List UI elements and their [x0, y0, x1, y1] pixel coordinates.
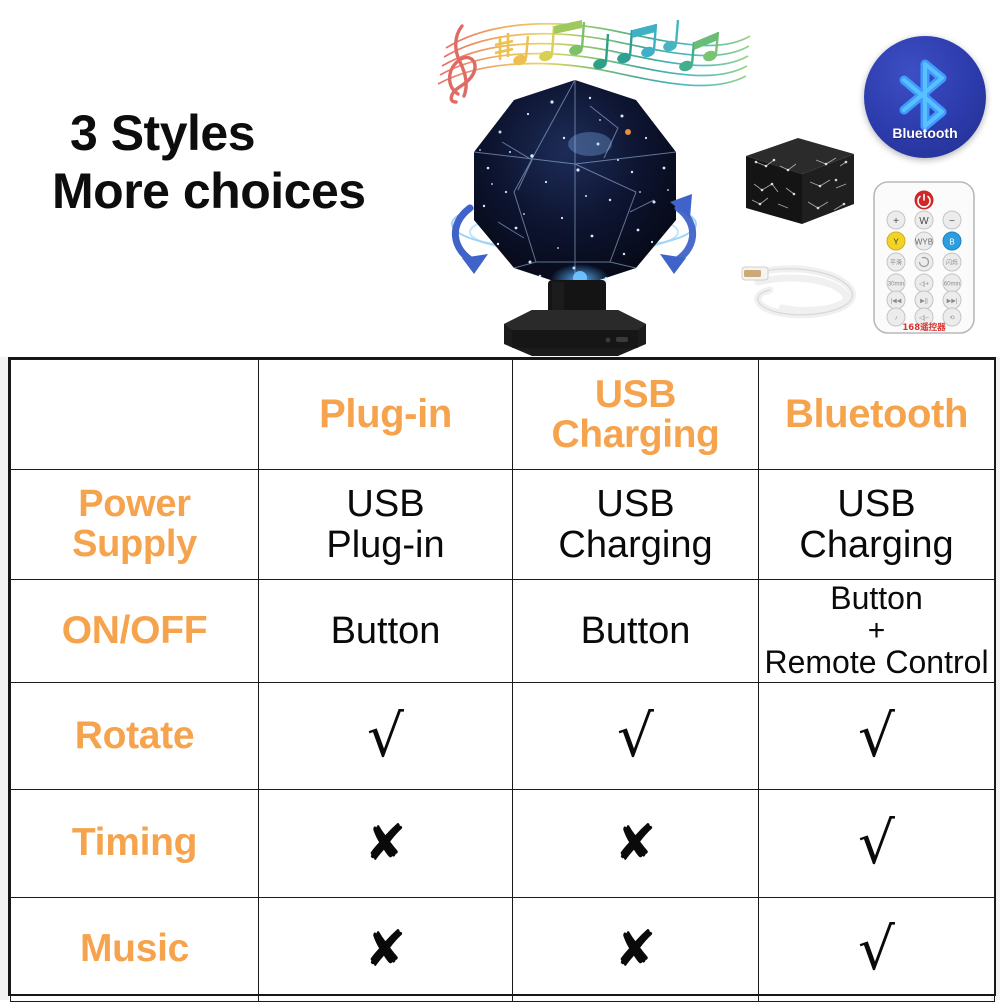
row-label-timing: Timing: [11, 789, 259, 897]
cell-rotate-plugin: √: [259, 682, 513, 789]
cell-rotate-usb-charging: √: [513, 682, 759, 789]
remote-control-image: +W− Y WYB B 平滑闪烁: [872, 180, 976, 335]
check-mark-icon: √: [517, 707, 754, 765]
table-row-power-supply: Power Supply USB Plug-in USB Charging: [11, 470, 995, 580]
table-row-timing: Timing ✘ ✘ √: [11, 789, 995, 897]
cell-power-supply-usb-charging: USB Charging: [513, 470, 759, 580]
svg-text:30min: 30min: [888, 282, 904, 288]
cross-mark-icon: ✘: [263, 924, 508, 974]
svg-text:▶▶|: ▶▶|: [947, 299, 958, 305]
row-label-music: Music: [11, 897, 259, 1001]
row-label-rotate: Rotate: [11, 682, 259, 789]
product-comparison-infographic: 3 Styles More choices: [0, 0, 1000, 1000]
usb-cable-image: [736, 250, 866, 328]
cell-timing-plugin: ✘: [259, 789, 513, 897]
svg-text:♪: ♪: [895, 316, 898, 322]
cell-on-off-usb-charging-text: Button: [517, 611, 754, 651]
column-header-usb-charging-line2: Charging: [517, 415, 754, 455]
cell-power-supply-plugin-line1: USB: [263, 484, 508, 524]
headline-line-1: 3 Styles: [52, 104, 452, 162]
table-row-on-off: ON/OFF Button Button Button + Remote Con…: [11, 580, 995, 683]
column-header-plugin-label: Plug-in: [263, 394, 508, 436]
svg-text:+: +: [893, 216, 899, 227]
comparison-table: Plug-in USB Charging Bluetooth Power: [8, 357, 996, 996]
svg-text:W: W: [919, 216, 929, 227]
cell-timing-usb-charging: ✘: [513, 789, 759, 897]
cross-mark-icon: ✘: [517, 924, 754, 974]
column-header-plugin: Plug-in: [259, 360, 513, 470]
cell-power-supply-usb-charging-line2: Charging: [517, 525, 754, 565]
check-mark-icon: √: [263, 707, 508, 765]
column-header-usb-charging: USB Charging: [513, 360, 759, 470]
table-row-music: Music ✘ ✘ √: [11, 897, 995, 1001]
column-header-usb-charging-line1: USB: [517, 375, 754, 415]
hero-banner: 3 Styles More choices: [0, 0, 1000, 357]
row-label-rotate-text: Rotate: [15, 716, 254, 757]
cell-rotate-bluetooth: √: [759, 682, 995, 789]
svg-text:B: B: [949, 238, 954, 247]
cell-on-off-bluetooth-plus: +: [763, 616, 990, 646]
cell-music-usb-charging: ✘: [513, 897, 759, 1001]
row-label-power-supply: Power Supply: [11, 470, 259, 580]
cell-on-off-plugin-text: Button: [263, 611, 508, 651]
cell-on-off-usb-charging: Button: [513, 580, 759, 683]
bluetooth-badge-label: Bluetooth: [864, 125, 986, 141]
cell-on-off-bluetooth-line2: Remote Control: [763, 646, 990, 680]
svg-text:◁)+: ◁)+: [919, 282, 930, 288]
constellation-gift-box-image: [728, 122, 868, 238]
table-row-rotate: Rotate √ √ √: [11, 682, 995, 789]
svg-text:|◀◀: |◀◀: [891, 299, 902, 305]
cell-on-off-bluetooth: Button + Remote Control: [759, 580, 995, 683]
svg-text:WYB: WYB: [915, 238, 933, 247]
check-mark-icon: √: [763, 920, 990, 978]
check-mark-icon: √: [763, 707, 990, 765]
svg-text:平滑: 平滑: [890, 259, 902, 267]
svg-text:闪烁: 闪烁: [946, 259, 958, 267]
svg-text:Y: Y: [893, 238, 899, 247]
row-label-music-text: Music: [15, 929, 254, 970]
row-label-timing-text: Timing: [15, 823, 254, 864]
cell-power-supply-bluetooth-line2: Charging: [763, 525, 990, 565]
headline-line-2: More choices: [52, 162, 452, 220]
cell-music-plugin: ✘: [259, 897, 513, 1001]
column-header-bluetooth: Bluetooth: [759, 360, 995, 470]
cross-mark-icon: ✘: [263, 818, 508, 868]
check-mark-icon: √: [763, 814, 990, 872]
svg-text:◁)−: ◁)−: [919, 316, 930, 322]
cell-power-supply-bluetooth: USB Charging: [759, 470, 995, 580]
cell-on-off-bluetooth-line1: Button: [763, 582, 990, 616]
cell-power-supply-usb-charging-line1: USB: [517, 484, 754, 524]
table-header-row: Plug-in USB Charging Bluetooth: [11, 360, 995, 470]
row-label-on-off-text: ON/OFF: [15, 611, 254, 652]
svg-text:−: −: [949, 216, 955, 227]
row-label-power-supply-line2: Supply: [15, 525, 254, 565]
cell-on-off-plugin: Button: [259, 580, 513, 683]
row-label-on-off: ON/OFF: [11, 580, 259, 683]
table-corner-cell: [11, 360, 259, 470]
row-label-power-supply-line1: Power: [15, 485, 254, 525]
cell-power-supply-bluetooth-line1: USB: [763, 484, 990, 524]
column-header-bluetooth-label: Bluetooth: [763, 394, 990, 436]
svg-text:▶||: ▶||: [920, 299, 928, 305]
cell-power-supply-plugin-line2: Plug-in: [263, 525, 508, 565]
cross-mark-icon: ✘: [517, 818, 754, 868]
bluetooth-badge: Bluetooth: [864, 36, 986, 158]
svg-text:60min: 60min: [944, 282, 960, 288]
remote-model-label: 168遥控器: [902, 322, 946, 333]
star-projector-lamp-image: [440, 72, 706, 357]
svg-text:⟲: ⟲: [949, 316, 954, 322]
cell-music-bluetooth: √: [759, 897, 995, 1001]
headline: 3 Styles More choices: [52, 104, 452, 220]
cell-power-supply-plugin: USB Plug-in: [259, 470, 513, 580]
cell-timing-bluetooth: √: [759, 789, 995, 897]
